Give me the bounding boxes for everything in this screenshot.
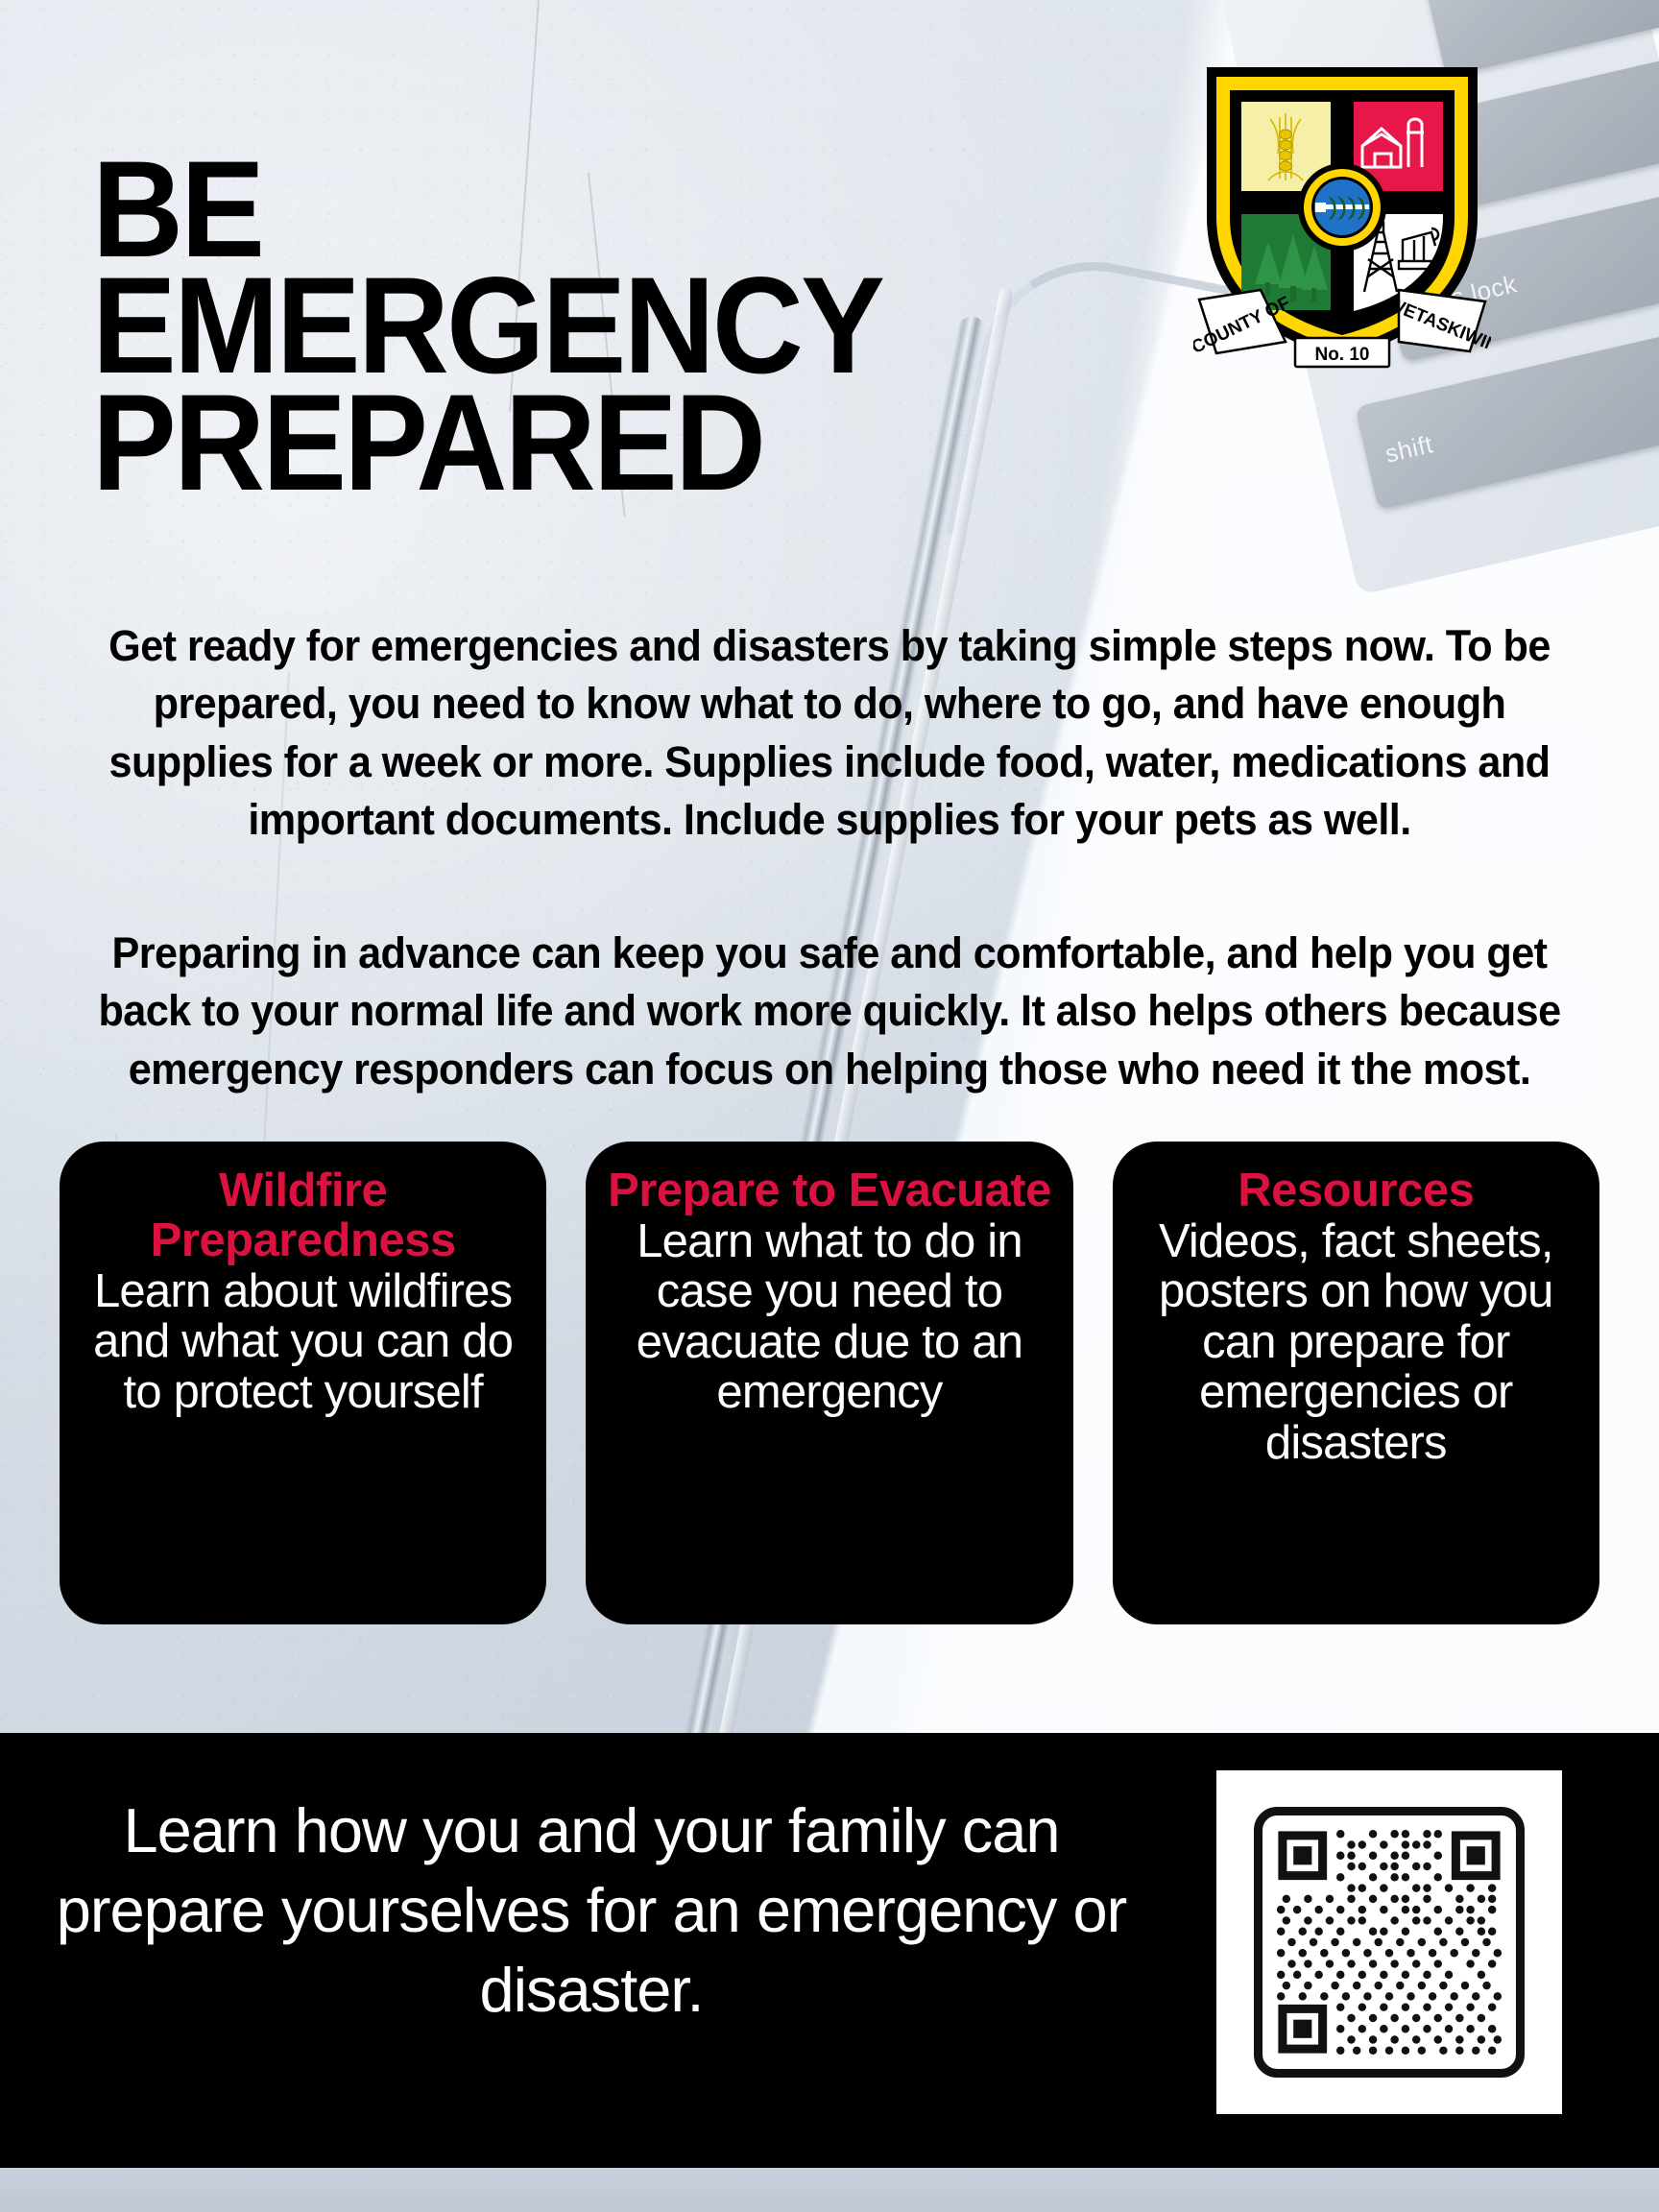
keyboard-key-label: shift <box>1382 429 1436 469</box>
topic-card-title: Resources <box>1238 1166 1474 1216</box>
crest-center-block <box>1315 203 1326 212</box>
topic-card-body: Learn about wildfires and what you can d… <box>77 1266 529 1417</box>
page-title: BE EMERGENCY PREPARED <box>92 152 975 502</box>
call-to-action-text: Learn how you and your family can prepar… <box>25 1791 1158 2031</box>
topic-card-resources[interactable]: Resources Videos, fact sheets, posters o… <box>1113 1142 1599 1624</box>
intro-paragraph-1: Get ready for emergencies and disasters … <box>68 617 1591 849</box>
topic-card-prepare-to-evacuate[interactable]: Prepare to Evacuate Learn what to do in … <box>586 1142 1072 1624</box>
county-of-wetaskiwin-crest-logo: COUNTY OF WETASKIWIN No. 10 <box>1193 54 1491 371</box>
intro-paragraph-2: Preparing in advance can keep you safe a… <box>68 925 1591 1098</box>
topic-card-list: Wildfire Preparedness Learn about wildfi… <box>60 1142 1599 1624</box>
topic-card-title: Wildfire Preparedness <box>77 1166 529 1266</box>
poster-root: tab caps lock shift <box>0 0 1659 2212</box>
crest-banner-center-text: No. 10 <box>1314 345 1369 365</box>
topic-card-body: Learn what to do in case you need to eva… <box>603 1216 1055 1418</box>
qr-code-white-frame <box>1216 1770 1562 2114</box>
topic-card-wildfire-preparedness[interactable]: Wildfire Preparedness Learn about wildfi… <box>60 1142 546 1624</box>
bottom-background-strip <box>0 2168 1659 2212</box>
topic-card-title: Prepare to Evacuate <box>608 1166 1051 1216</box>
qr-code[interactable] <box>1253 1807 1526 2078</box>
topic-card-body: Videos, fact sheets, posters on how you … <box>1130 1216 1582 1468</box>
